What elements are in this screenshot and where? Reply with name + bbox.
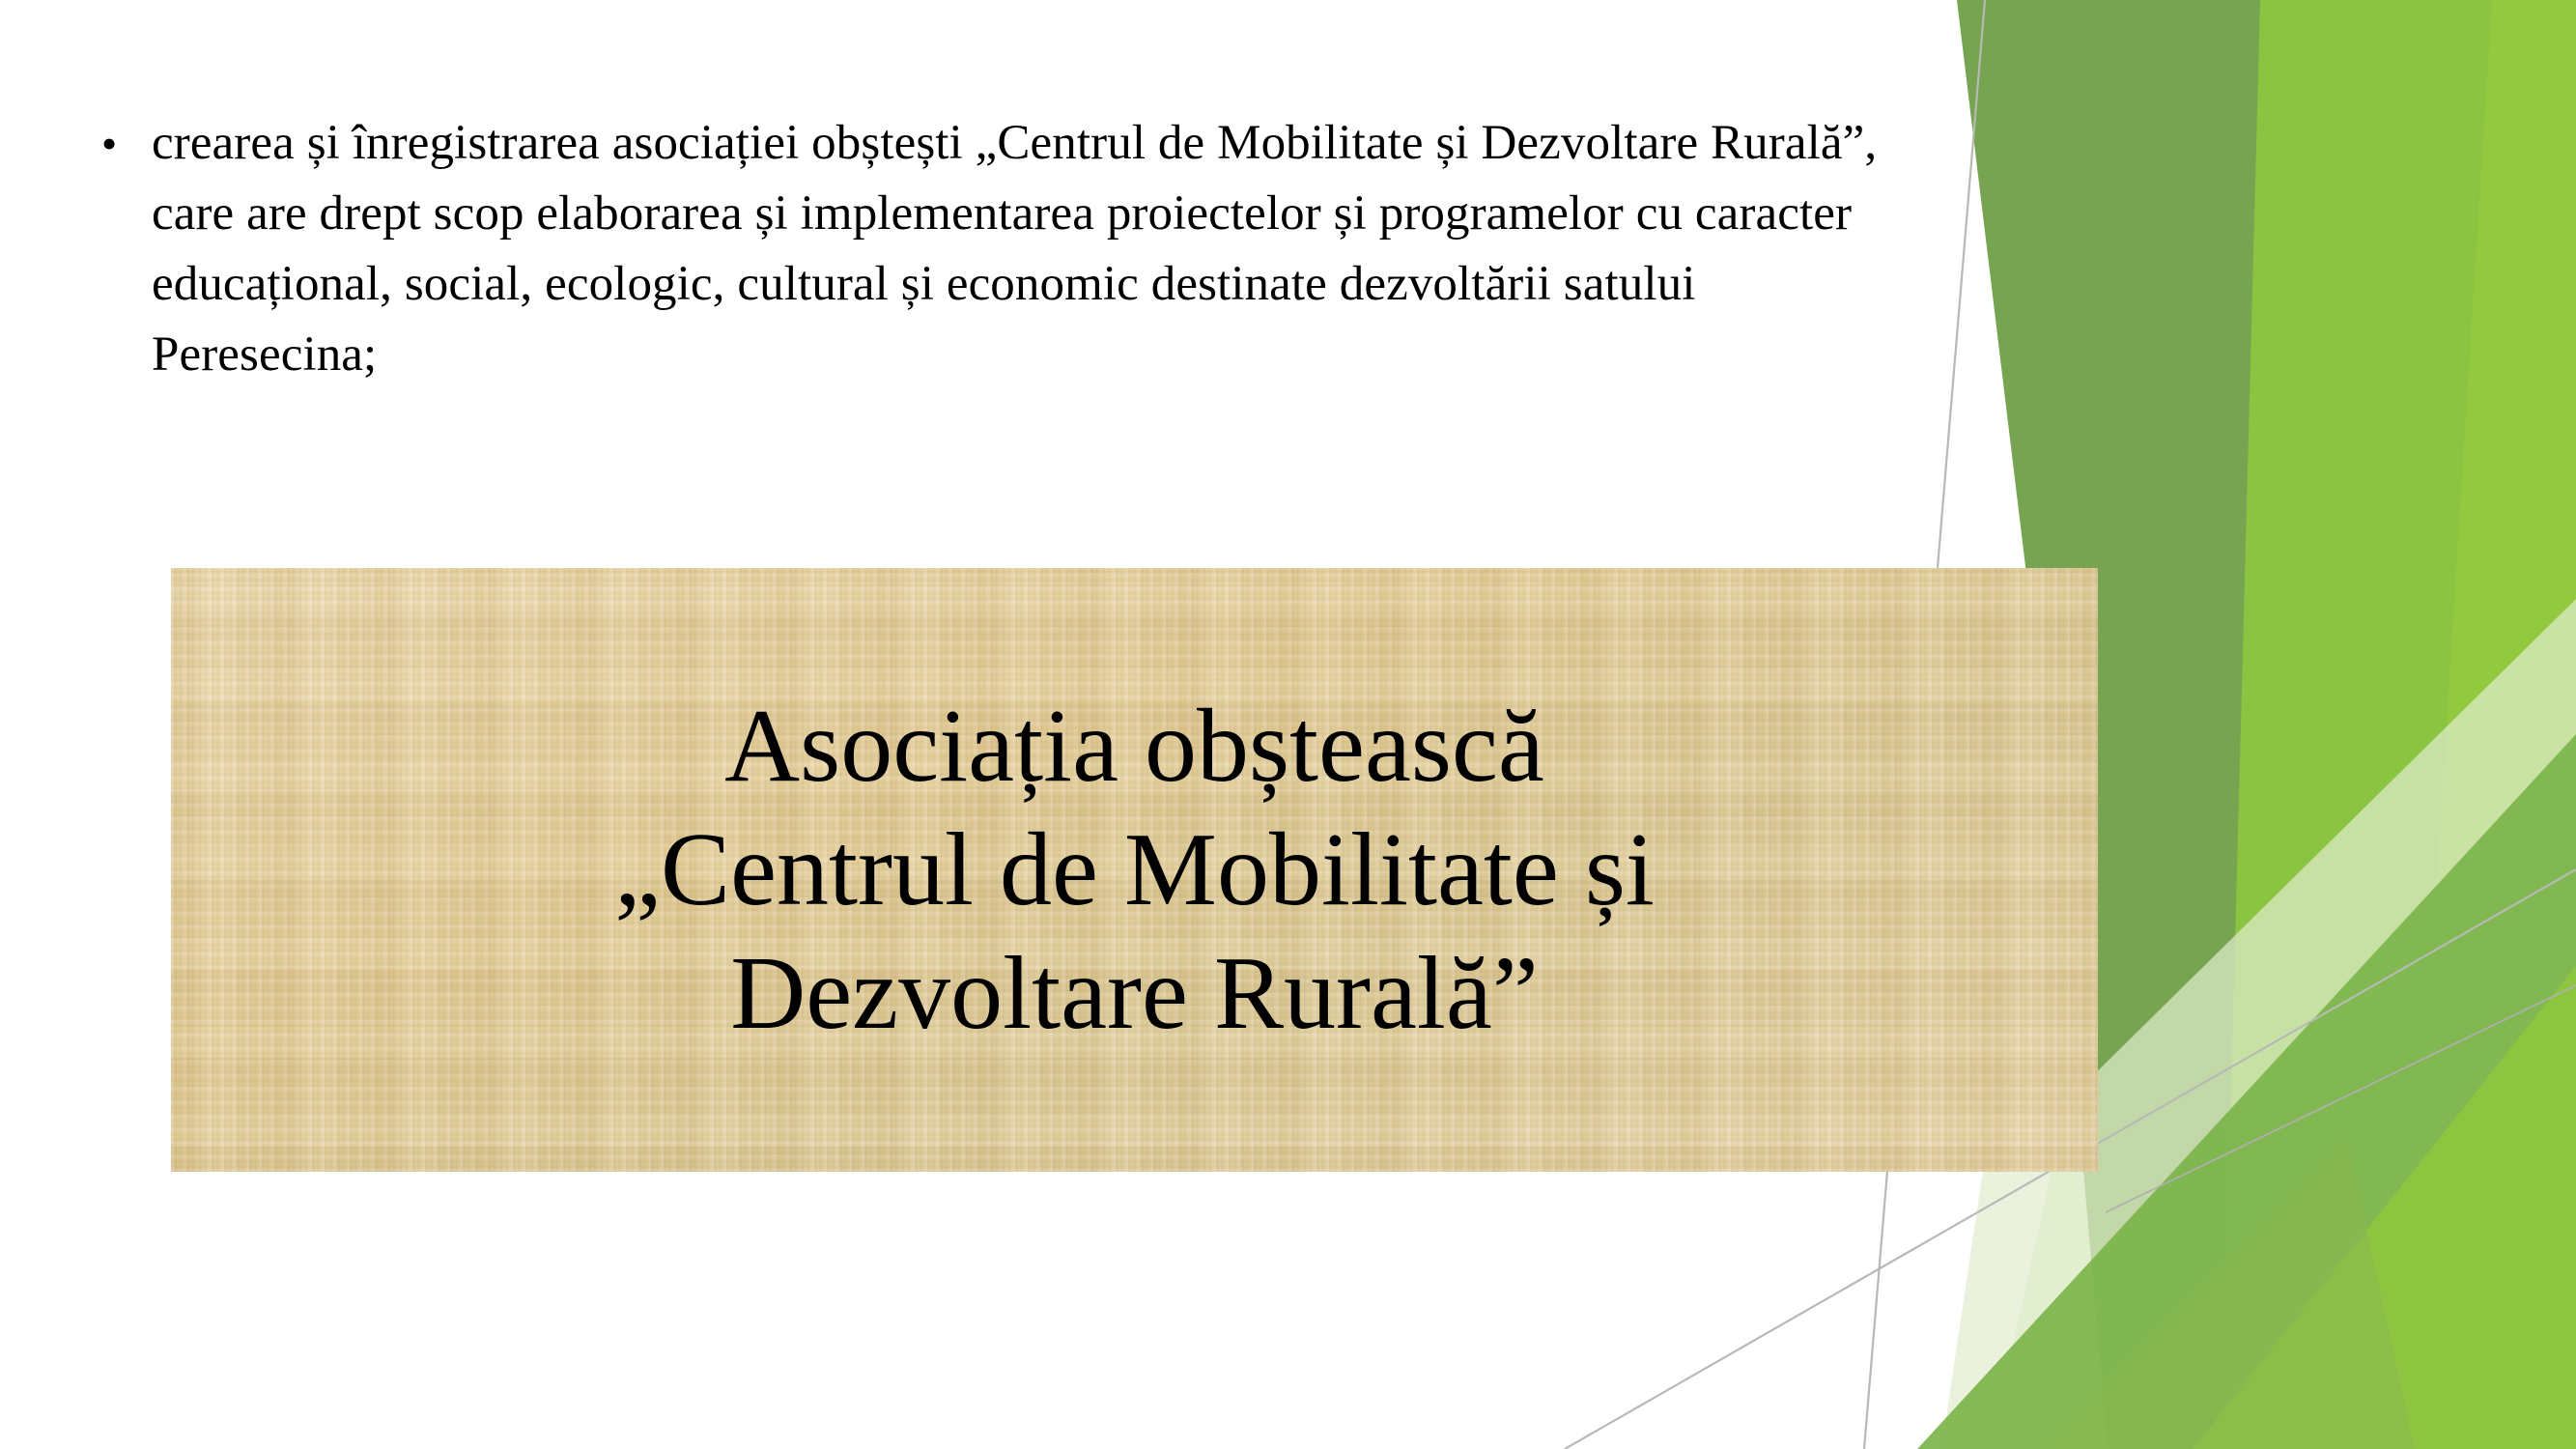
light-green-column xyxy=(2401,0,2576,1449)
papyrus-text-box: Asociația obștească „Centrul de Mobilita… xyxy=(171,568,2098,1172)
slide-canvas: • crearea și înregistrarea asociației ob… xyxy=(0,0,2576,1449)
bullet-item-text: crearea și înregistrarea asociației obșt… xyxy=(152,108,1929,390)
bullet-list-item: • crearea și înregistrarea asociației ob… xyxy=(92,108,1985,390)
hairline-diagonal-mid xyxy=(2106,985,2576,1212)
content-placeholder: • crearea și înregistrarea asociației ob… xyxy=(92,108,1985,390)
bullet-point-icon: • xyxy=(92,108,152,179)
pale-green-tail xyxy=(2038,1140,2415,1449)
papyrus-line-1: Asociația obștească xyxy=(724,685,1544,809)
bright-green-facet xyxy=(2222,0,2502,1449)
papyrus-line-3: Dezvoltare Rurală” xyxy=(730,932,1539,1056)
bright-green-diagonal xyxy=(2193,966,2576,1449)
papyrus-line-2: „Centrul de Mobilitate și xyxy=(614,809,1655,932)
